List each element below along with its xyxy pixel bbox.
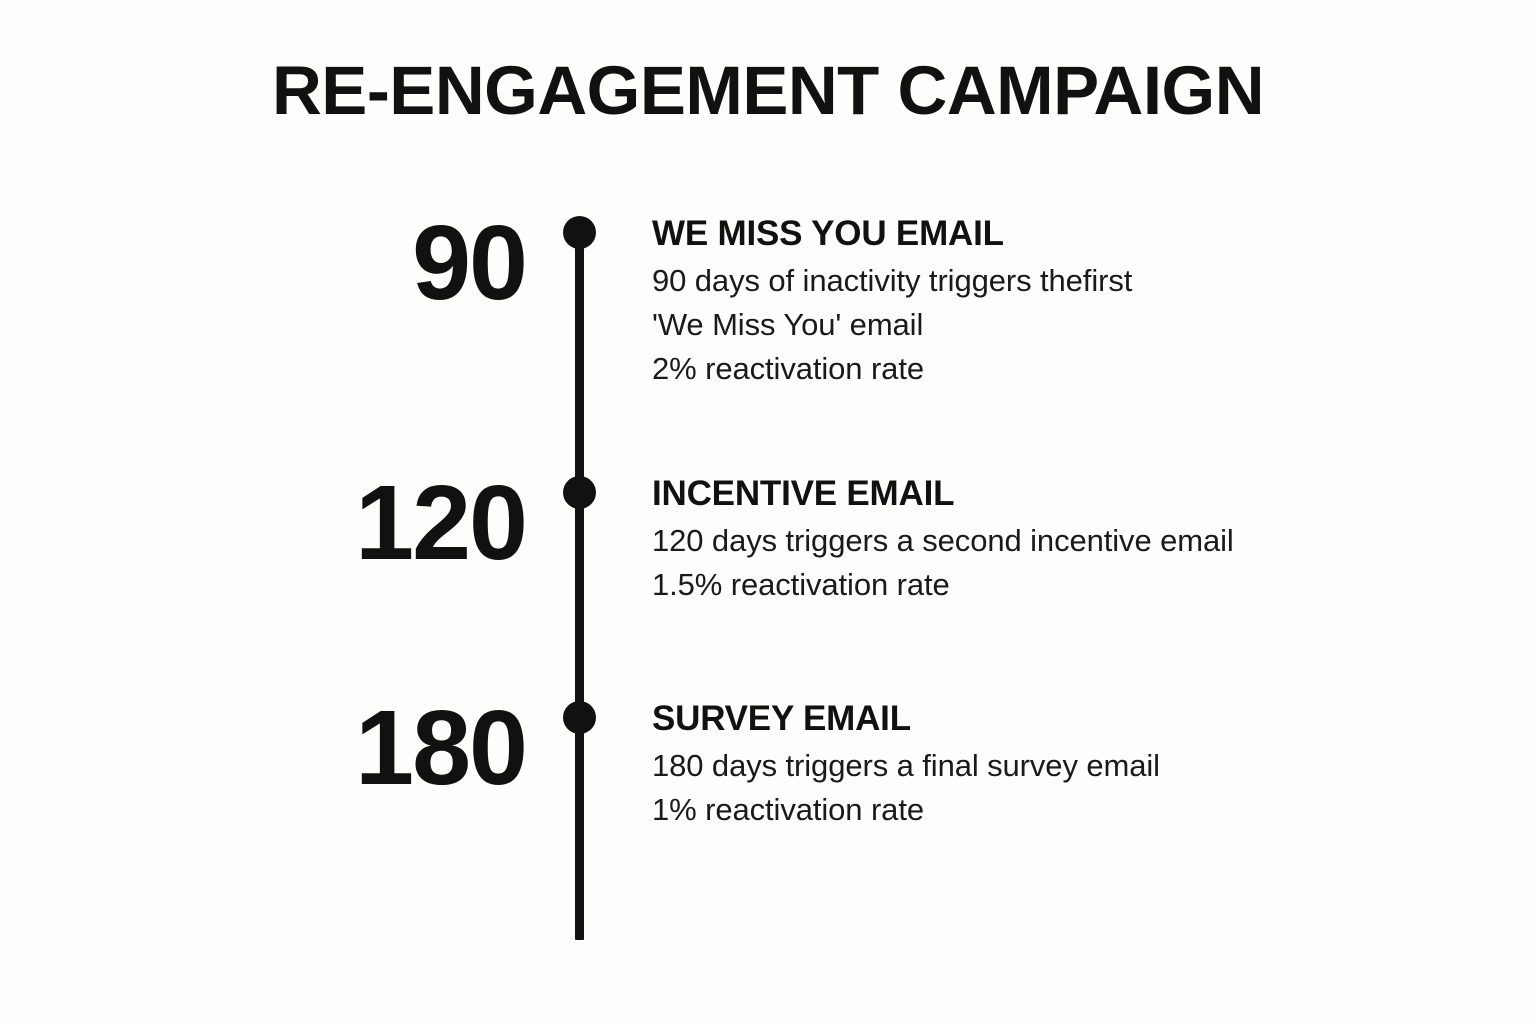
milestone-heading: SURVEY EMAIL [652,699,1432,738]
milestone-detail-line: 90 days of inactivity triggers thefirst [652,259,1432,303]
milestone-detail-line: 1% reactivation rate [652,788,1432,832]
timeline-dot-icon [563,476,596,509]
milestone-detail-line: 2% reactivation rate [652,347,1432,391]
milestone-detail-list: 120 days triggers a second incentive ema… [652,519,1432,607]
milestone-detail-list: 90 days of inactivity triggers thefirst … [652,259,1432,391]
milestone-day-number: 180 [300,695,526,801]
timeline-dot-icon [563,216,596,249]
milestone-day-number: 90 [300,210,526,316]
milestone-content: WE MISS YOU EMAIL 90 days of inactivity … [652,214,1432,391]
timeline-axis [575,232,584,940]
milestone-detail-list: 180 days triggers a final survey email 1… [652,744,1432,832]
milestone-heading: INCENTIVE EMAIL [652,474,1432,513]
timeline-dot-icon [563,701,596,734]
milestone-detail-line: 'We Miss You' email [652,303,1432,347]
page-title: RE-ENGAGEMENT CAMPAIGN [0,56,1536,125]
milestone-detail-line: 120 days triggers a second incentive ema… [652,519,1432,563]
milestone-content: INCENTIVE EMAIL 120 days triggers a seco… [652,474,1432,607]
milestone-heading: WE MISS YOU EMAIL [652,214,1432,253]
milestone-detail-line: 180 days triggers a final survey email [652,744,1432,788]
milestone-detail-line: 1.5% reactivation rate [652,563,1432,607]
infographic-canvas: RE-ENGAGEMENT CAMPAIGN 90 WE MISS YOU EM… [0,0,1536,1024]
milestone-day-number: 120 [300,470,526,576]
milestone-content: SURVEY EMAIL 180 days triggers a final s… [652,699,1432,832]
